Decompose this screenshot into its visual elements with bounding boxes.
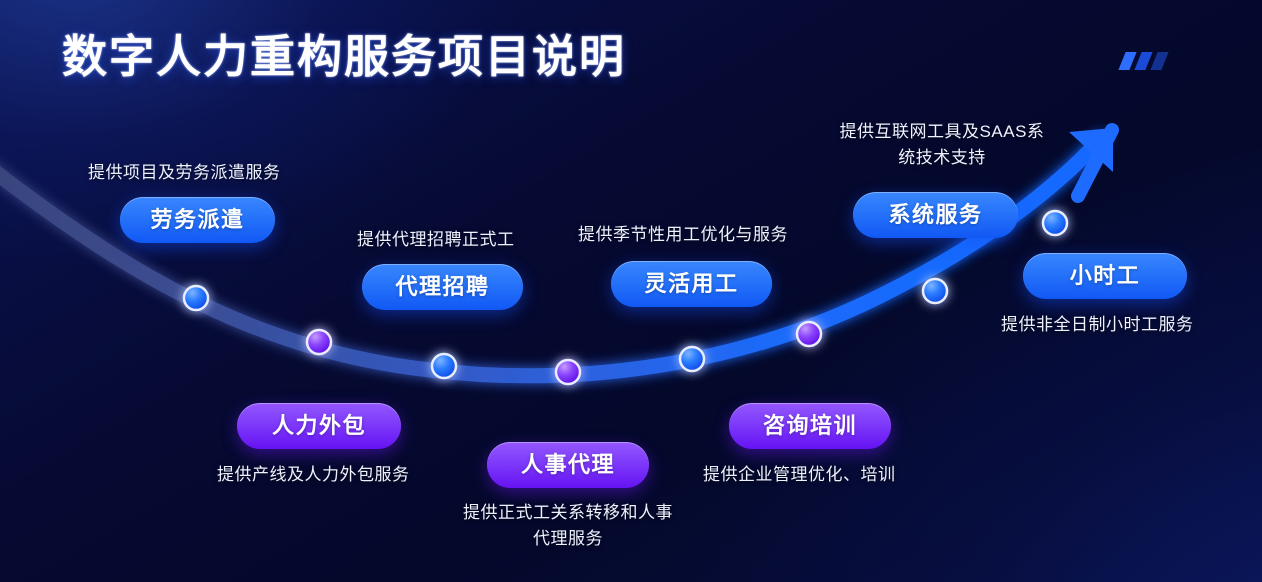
pill-label: 系统服务: [888, 202, 982, 227]
caption-consulting-training: 提供企业管理优化、培训: [703, 462, 896, 488]
caption-line: 代理服务: [448, 526, 688, 552]
pill-label: 劳务派遣: [150, 207, 244, 232]
pill-hr-outsourcing[interactable]: 人力外包: [237, 403, 401, 449]
slide-canvas: 数字人力重构服务项目说明: [0, 0, 1262, 582]
pill-system-service[interactable]: 系统服务: [853, 192, 1018, 238]
caption-labor-dispatch: 提供项目及劳务派遣服务: [88, 160, 281, 186]
node-3[interactable]: [432, 354, 456, 378]
pill-consulting-training[interactable]: 咨询培训: [729, 403, 891, 449]
node-2[interactable]: [307, 330, 331, 354]
pill-flexible-employment[interactable]: 灵活用工: [611, 261, 772, 307]
caption-line: 统技术支持: [826, 145, 1058, 171]
caption-flexible-employment: 提供季节性用工优化与服务: [578, 222, 788, 248]
caption-line: 提供季节性用工优化与服务: [578, 222, 788, 248]
pill-hr-agency[interactable]: 人事代理: [487, 442, 649, 488]
pill-label: 人力外包: [272, 413, 366, 438]
pill-label: 人事代理: [521, 452, 615, 477]
caption-line: 提供企业管理优化、培训: [703, 462, 896, 488]
pill-labor-dispatch[interactable]: 劳务派遣: [120, 197, 275, 243]
pill-agency-recruitment[interactable]: 代理招聘: [362, 264, 523, 310]
caption-hr-agency: 提供正式工关系转移和人事 代理服务: [448, 500, 688, 552]
node-5[interactable]: [680, 347, 704, 371]
node-6[interactable]: [797, 322, 821, 346]
pill-hourly-worker[interactable]: 小时工: [1023, 253, 1187, 299]
pill-label: 代理招聘: [395, 274, 489, 299]
pill-label: 咨询培训: [763, 413, 857, 438]
node-4[interactable]: [556, 360, 580, 384]
node-1[interactable]: [184, 286, 208, 310]
caption-line: 提供非全日制小时工服务: [1001, 312, 1194, 338]
caption-line: 提供产线及人力外包服务: [217, 462, 410, 488]
caption-agency-recruitment: 提供代理招聘正式工: [357, 227, 515, 253]
caption-line: 提供代理招聘正式工: [357, 227, 515, 253]
caption-line: 提供正式工关系转移和人事: [448, 500, 688, 526]
caption-line: 提供互联网工具及SAAS系: [826, 119, 1058, 145]
caption-system-service: 提供互联网工具及SAAS系 统技术支持: [826, 119, 1058, 171]
node-7[interactable]: [923, 279, 947, 303]
caption-hr-outsourcing: 提供产线及人力外包服务: [217, 462, 410, 488]
caption-hourly-worker: 提供非全日制小时工服务: [1001, 312, 1194, 338]
pill-label: 小时工: [1070, 263, 1141, 288]
caption-line: 提供项目及劳务派遣服务: [88, 160, 281, 186]
pill-label: 灵活用工: [644, 271, 738, 296]
node-8[interactable]: [1043, 211, 1067, 235]
